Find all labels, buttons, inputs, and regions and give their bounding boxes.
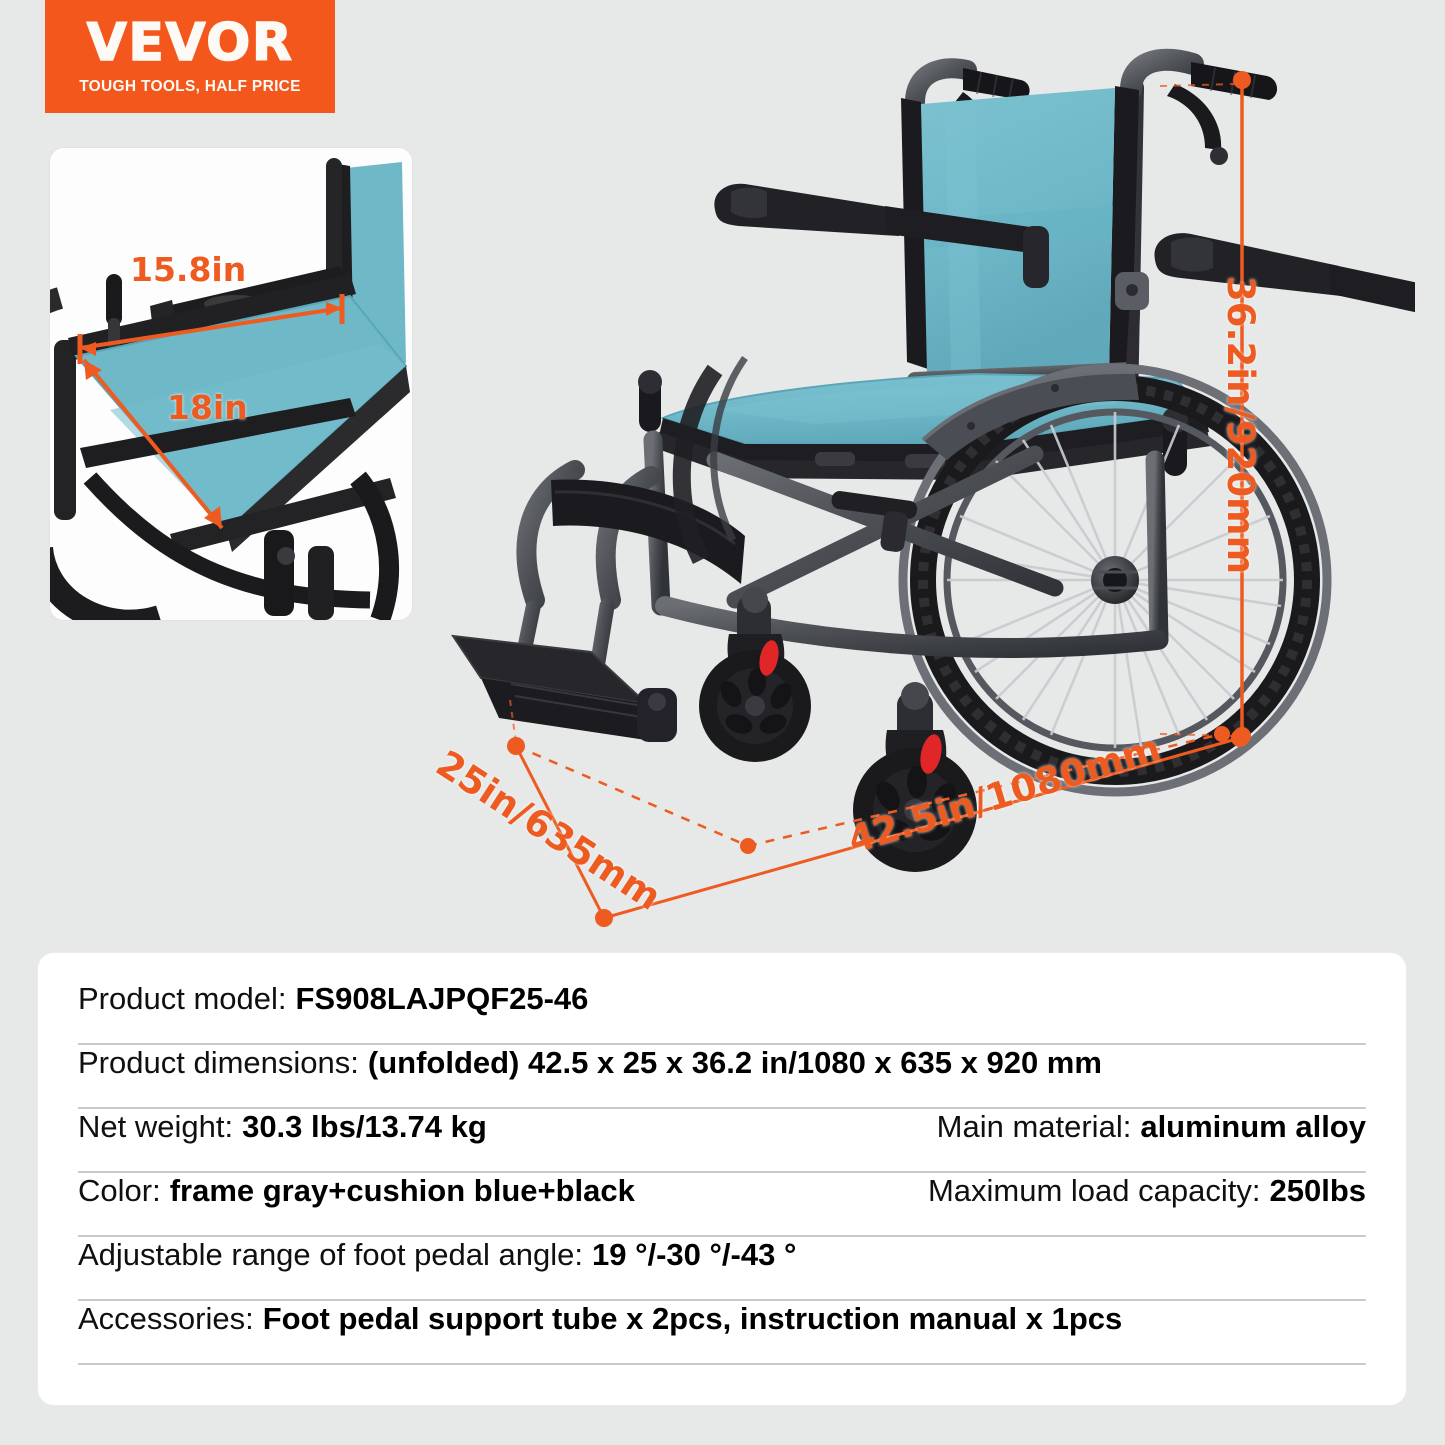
spec-cell-pedal-angle: Adjustable range of foot pedal angle: 19… (78, 1237, 796, 1273)
brand-tagline: TOUGH TOOLS, HALF PRICE (79, 78, 301, 96)
vevor-logo: VEVOR TOUGH TOOLS, HALF PRICE (45, 0, 335, 113)
spec-label-pedal-angle: Adjustable range of foot pedal angle: (78, 1237, 583, 1273)
spec-row-product-model: Product model: FS908LAJPQF25-46 (78, 981, 1366, 1045)
spec-row-net-weight: Net weight: 30.3 lbs/13.74 kg Main mater… (78, 1109, 1366, 1173)
spec-label-color: Color: (78, 1173, 161, 1209)
spec-cell-color: Color: frame gray+cushion blue+black (78, 1173, 635, 1209)
spec-label-net-weight: Net weight: (78, 1109, 233, 1145)
spec-row-product-dimensions: Product dimensions: (unfolded) 42.5 x 25… (78, 1045, 1366, 1109)
spec-row-color: Color: frame gray+cushion blue+black Max… (78, 1173, 1366, 1237)
spec-value-main-material: aluminum alloy (1140, 1109, 1366, 1145)
wheelchair-illustration (415, 40, 1415, 940)
spec-cell-product-dimensions: Product dimensions: (unfolded) 42.5 x 25… (78, 1045, 1102, 1081)
spec-value-product-model: FS908LAJPQF25-46 (296, 981, 589, 1017)
spec-value-max-load: 250lbs (1269, 1173, 1366, 1209)
spec-cell-product-model: Product model: FS908LAJPQF25-46 (78, 981, 588, 1017)
inset-dimension-arrows (50, 148, 412, 620)
spec-cell-net-weight: Net weight: 30.3 lbs/13.74 kg (78, 1109, 487, 1145)
spec-value-pedal-angle: 19 °/-30 °/-43 ° (592, 1237, 796, 1273)
spec-label-product-model: Product model: (78, 981, 287, 1017)
specification-card: Product model: FS908LAJPQF25-46 Product … (38, 953, 1406, 1405)
spec-label-max-load: Maximum load capacity: (928, 1173, 1261, 1209)
spec-cell-main-material: Main material: aluminum alloy (937, 1109, 1366, 1145)
spec-label-main-material: Main material: (937, 1109, 1132, 1145)
spec-row-pedal-angle: Adjustable range of foot pedal angle: 19… (78, 1237, 1366, 1301)
spec-value-color: frame gray+cushion blue+black (170, 1173, 635, 1209)
spec-label-product-dimensions: Product dimensions: (78, 1045, 359, 1081)
wheelchair-product-photo (415, 40, 1415, 940)
spec-value-accessories: Foot pedal support tube x 2pcs, instruct… (263, 1301, 1123, 1337)
spec-value-product-dimensions: (unfolded) 42.5 x 25 x 36.2 in/1080 x 63… (368, 1045, 1102, 1081)
seat-dimension-inset-card (50, 148, 412, 620)
spec-label-accessories: Accessories: (78, 1301, 254, 1337)
spec-value-net-weight: 30.3 lbs/13.74 kg (242, 1109, 487, 1145)
spec-row-accessories: Accessories: Foot pedal support tube x 2… (78, 1301, 1366, 1365)
brand-wordmark: VEVOR (87, 17, 294, 69)
spec-cell-accessories: Accessories: Foot pedal support tube x 2… (78, 1301, 1122, 1337)
spec-cell-max-load: Maximum load capacity: 250lbs (928, 1173, 1366, 1209)
